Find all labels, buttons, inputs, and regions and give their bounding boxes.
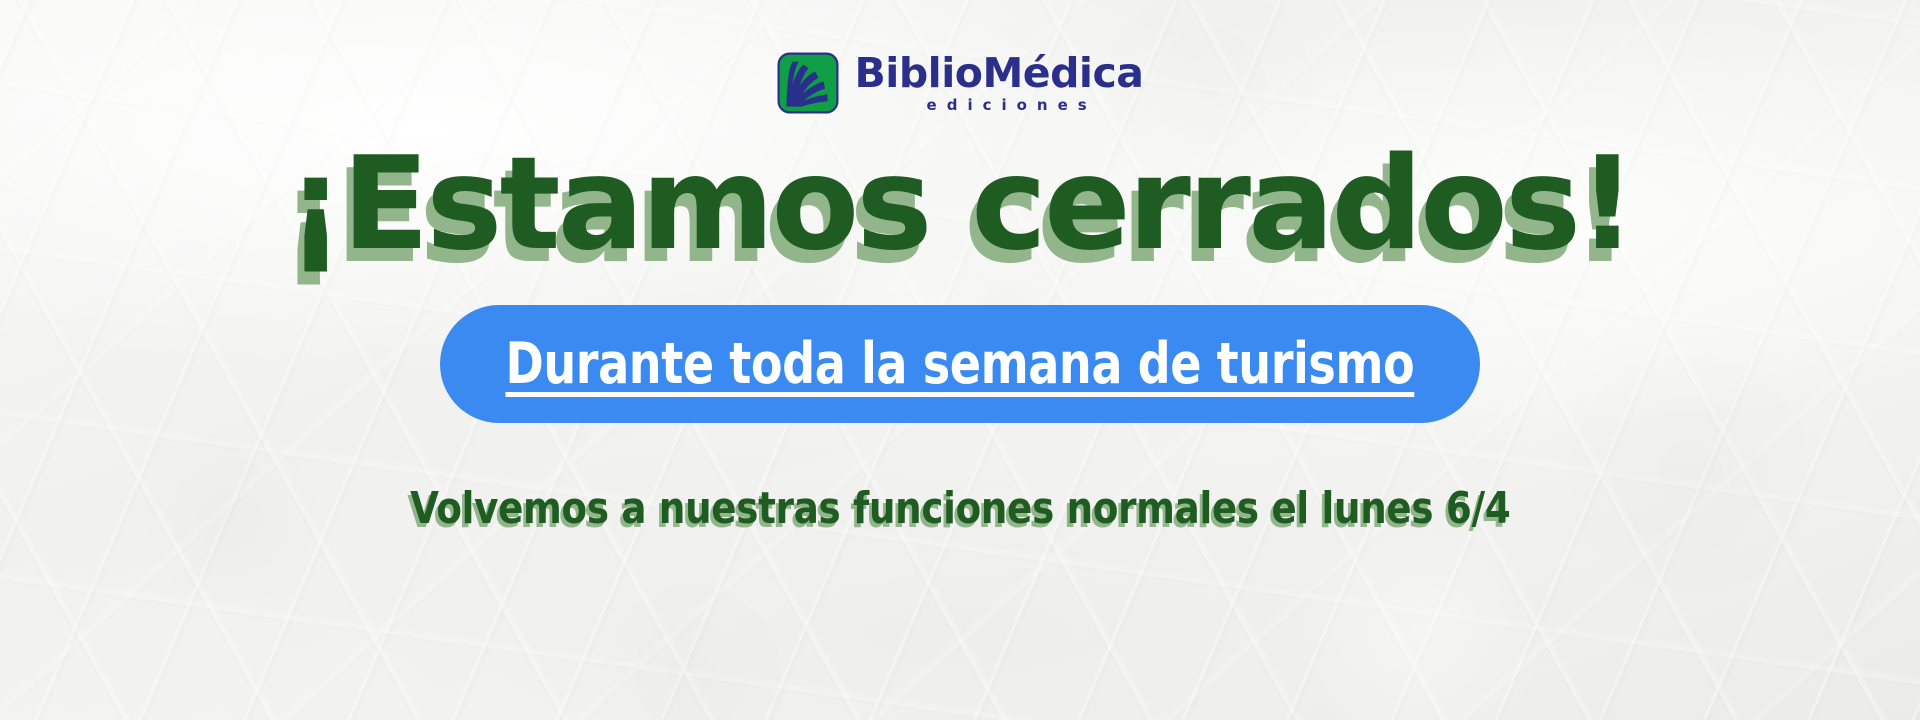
brand-name: BiblioMédica	[855, 53, 1144, 95]
book-fan-logo-icon	[777, 52, 839, 114]
reopening-note: Volvemos a nuestras funciones normales e…	[410, 483, 1510, 534]
closure-period-button[interactable]: Durante toda la semana de turismo	[440, 305, 1480, 423]
closure-period-label: Durante toda la semana de turismo	[506, 331, 1415, 397]
closed-announcement-banner: BiblioMédica ediciones ¡Estamos cerrados…	[0, 0, 1920, 720]
brand-wordmark: BiblioMédica ediciones	[855, 53, 1144, 113]
banner-content: BiblioMédica ediciones ¡Estamos cerrados…	[0, 0, 1920, 720]
brand-lockup: BiblioMédica ediciones	[777, 50, 1144, 116]
brand-tagline: ediciones	[927, 98, 1097, 113]
page-title: ¡Estamos cerrados!	[286, 140, 1633, 271]
cta-container: Durante toda la semana de turismo	[440, 305, 1480, 423]
